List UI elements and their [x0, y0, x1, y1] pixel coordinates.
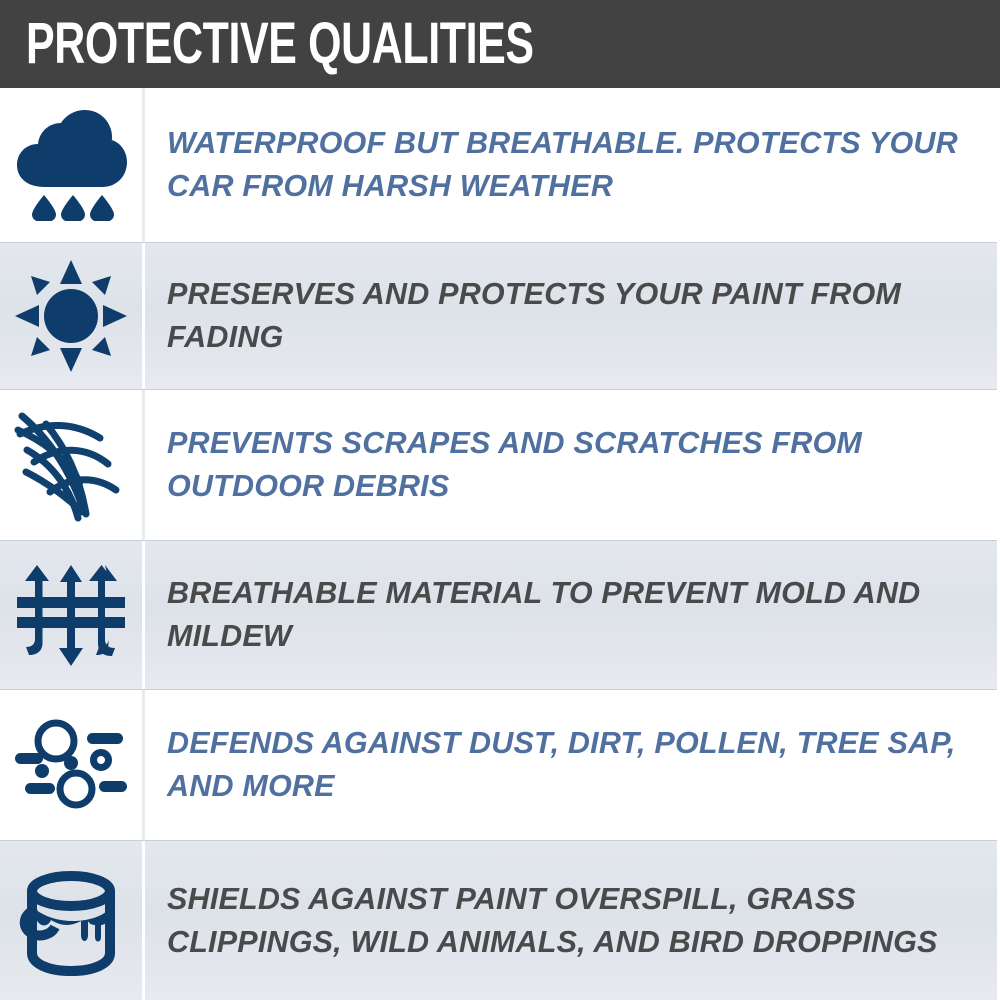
dust-particles-icon	[13, 715, 129, 815]
icon-cell	[0, 390, 145, 540]
feature-row-uv-protection: PRESERVES AND PROTECTS YOUR PAINT FROM F…	[0, 242, 1000, 390]
text-cell: PREVENTS SCRAPES AND SCRATCHES FROM OUTD…	[145, 390, 1000, 540]
text-cell: BREATHABLE MATERIAL TO PREVENT MOLD AND …	[145, 541, 1000, 689]
icon-cell	[0, 690, 145, 840]
feature-text: BREATHABLE MATERIAL TO PREVENT MOLD AND …	[167, 572, 960, 658]
text-cell: DEFENDS AGAINST DUST, DIRT, POLLEN, TREE…	[145, 690, 1000, 840]
feature-row-waterproof: WATERPROOF BUT BREATHABLE. PROTECTS YOUR…	[0, 88, 1000, 242]
feature-row-breathable: BREATHABLE MATERIAL TO PREVENT MOLD AND …	[0, 540, 1000, 690]
feature-row-paint-shield: SHIELDS AGAINST PAINT OVERSPILL, GRASS C…	[0, 840, 1000, 1000]
sun-icon	[15, 260, 127, 372]
breathable-airflow-arrows-icon	[15, 559, 127, 671]
icon-cell	[0, 243, 145, 389]
feature-text: PRESERVES AND PROTECTS YOUR PAINT FROM F…	[167, 273, 960, 359]
text-cell: WATERPROOF BUT BREATHABLE. PROTECTS YOUR…	[145, 88, 1000, 242]
text-cell: PRESERVES AND PROTECTS YOUR PAINT FROM F…	[145, 243, 1000, 389]
icon-cell	[0, 841, 145, 1000]
feature-text: DEFENDS AGAINST DUST, DIRT, POLLEN, TREE…	[167, 722, 960, 808]
feature-text: PREVENTS SCRAPES AND SCRATCHES FROM OUTD…	[167, 422, 960, 508]
icon-cell	[0, 88, 145, 242]
page-title: PROTECTIVE QUALITIES	[26, 15, 534, 73]
icon-cell	[0, 541, 145, 689]
text-cell: SHIELDS AGAINST PAINT OVERSPILL, GRASS C…	[145, 841, 1000, 1000]
rain-cloud-icon	[12, 109, 130, 221]
feature-row-scratch-protection: PREVENTS SCRAPES AND SCRATCHES FROM OUTD…	[0, 390, 1000, 540]
feature-text: SHIELDS AGAINST PAINT OVERSPILL, GRASS C…	[167, 878, 960, 964]
crosshatch-scratch-icon	[12, 406, 130, 524]
header-bar: PROTECTIVE QUALITIES	[0, 0, 1000, 88]
protective-qualities-infographic: PROTECTIVE QUALITIES WATERPROOF BUT BREA…	[0, 0, 1000, 1000]
paint-can-icon	[15, 865, 127, 977]
feature-text: WATERPROOF BUT BREATHABLE. PROTECTS YOUR…	[167, 122, 960, 208]
feature-row-dust-defense: DEFENDS AGAINST DUST, DIRT, POLLEN, TREE…	[0, 690, 1000, 840]
